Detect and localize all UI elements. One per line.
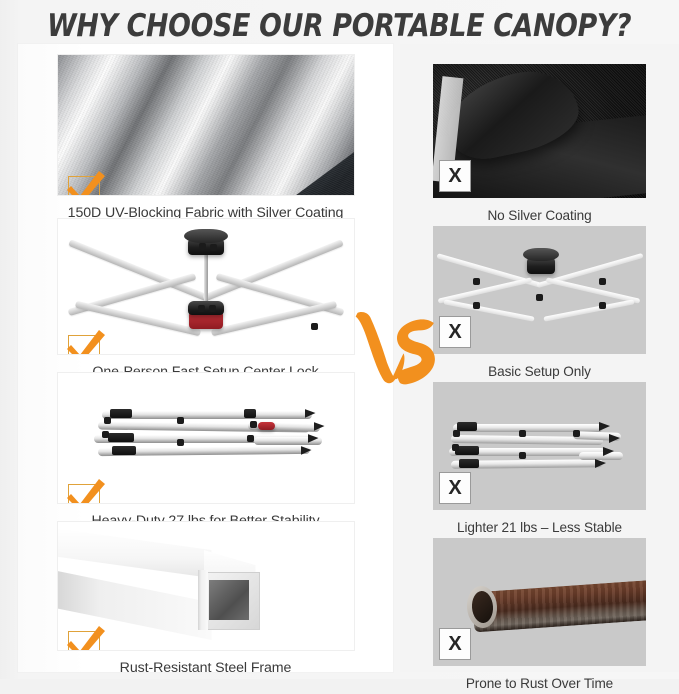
pro-row-3: Heavy-Duty 27 lbs for Better Stability <box>18 372 393 531</box>
plain-black-fabric-photo: X <box>433 64 646 198</box>
rusty-round-pipe-photo: X <box>433 538 646 666</box>
pro-row-1: 150D UV-Blocking Fabric with Silver Coat… <box>18 54 393 223</box>
check-glyph <box>64 324 106 355</box>
con-caption-3: Lighter 21 lbs – Less Stable <box>400 518 679 538</box>
pro-caption-4: Rust-Resistant Steel Frame <box>18 658 393 678</box>
con-row-4: X Prone to Rust Over Time <box>400 538 679 694</box>
pro-row-4: Rust-Resistant Steel Frame <box>18 521 393 678</box>
check-icon <box>68 176 100 196</box>
check-glyph <box>64 620 106 651</box>
x-icon: X <box>439 160 471 192</box>
con-row-1: X No Silver Coating <box>400 64 679 226</box>
pro-figure-1 <box>57 54 355 196</box>
infographic-canvas: WHY CHOOSE OUR PORTABLE CANOPY? 150D UV-… <box>0 0 679 679</box>
pro-column-panel: 150D UV-Blocking Fabric with Silver Coat… <box>18 44 393 672</box>
x-label: X <box>448 322 461 342</box>
pro-row-2: One-Person Fast Setup Center Lock <box>18 218 393 382</box>
x-label: X <box>448 634 461 654</box>
x-label: X <box>448 478 461 498</box>
vs-badge <box>352 300 444 392</box>
check-glyph <box>64 165 106 196</box>
check-icon <box>68 335 100 355</box>
check-glyph <box>64 473 106 504</box>
check-icon <box>68 631 100 651</box>
con-caption-4: Prone to Rust Over Time <box>400 674 679 694</box>
pro-figure-3 <box>57 372 355 504</box>
con-row-3: X Lighter 21 lbs – Less Stable <box>400 382 679 538</box>
x-label: X <box>448 166 461 186</box>
lighter-folded-frame-photo: X <box>433 382 646 510</box>
basic-frame-photo: X <box>433 226 646 354</box>
page-title: WHY CHOOSE OUR PORTABLE CANOPY? <box>47 8 631 44</box>
x-icon: X <box>439 472 471 504</box>
x-icon: X <box>439 628 471 660</box>
pro-figure-2 <box>57 218 355 355</box>
pro-figure-4 <box>57 521 355 651</box>
vs-brush-glyph <box>352 300 444 392</box>
check-icon <box>68 484 100 504</box>
fabric-dark-corner <box>294 151 355 196</box>
con-caption-1: No Silver Coating <box>400 206 679 226</box>
